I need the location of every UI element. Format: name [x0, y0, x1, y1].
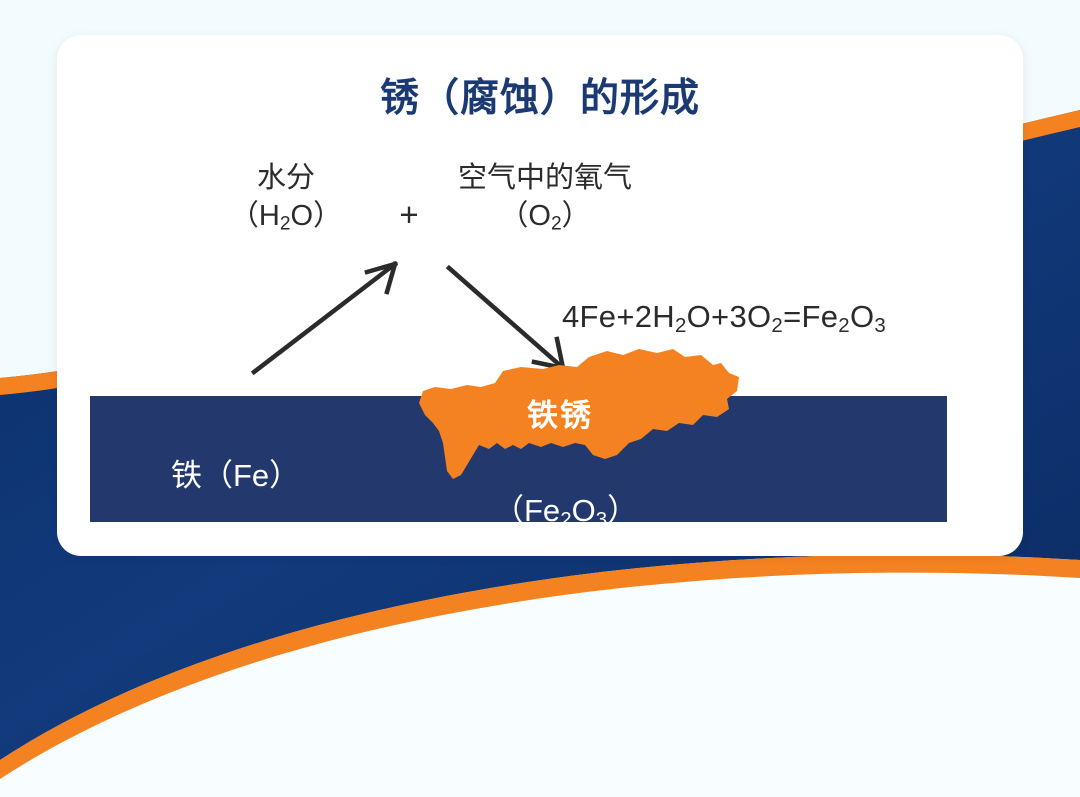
reagent-water-name: 水分 — [257, 162, 315, 194]
rust-label: 铁锈 — [527, 390, 593, 435]
oxide-open: （Fe — [493, 493, 560, 528]
reagent-water-formula: （H2O） — [191, 197, 381, 237]
reagent-oxygen: 空气中的氧气 （O2） — [390, 159, 700, 237]
oxide-sub-2: 3 — [596, 508, 607, 531]
eq-sub: 2 — [771, 314, 783, 337]
reagent-water: 水分 （H2O） — [191, 159, 381, 237]
eq-seg: 4Fe+2H — [562, 299, 675, 334]
formula-subscript: 2 — [280, 214, 291, 235]
iron-oxide-label: （Fe2O3） — [493, 485, 638, 532]
oxide-close: ） — [607, 493, 638, 528]
chemical-equation: 4Fe+2H2O+3O2=Fe2O3 — [562, 299, 886, 338]
eq-sub: 3 — [874, 314, 886, 337]
eq-sub: 2 — [838, 314, 850, 337]
formula-close: O） — [291, 200, 343, 232]
diagram-canvas: 锈（腐蚀）的形成 水分 （H2O） + 空气中的氧气 （O2） 4Fe+2H2O… — [0, 0, 1080, 797]
oxide-sub-1: 2 — [560, 508, 571, 531]
eq-seg: O+3O — [687, 299, 772, 334]
formula-open: （O — [499, 200, 551, 232]
eq-sub: 2 — [675, 314, 687, 337]
eq-seg: =Fe — [783, 299, 838, 334]
arrow-up-right-shaft — [254, 264, 395, 372]
reagent-oxygen-formula: （O2） — [390, 197, 700, 237]
eq-seg: O — [850, 299, 874, 334]
iron-label: 铁（Fe） — [171, 450, 300, 495]
reagent-oxygen-name: 空气中的氧气 — [458, 162, 632, 194]
arrow-up-right-head — [367, 264, 395, 292]
oxide-mid: O — [572, 493, 596, 528]
content-card: 锈（腐蚀）的形成 水分 （H2O） + 空气中的氧气 （O2） 4Fe+2H2O… — [57, 35, 1023, 556]
page-title: 锈（腐蚀）的形成 — [57, 78, 1023, 121]
formula-subscript: 2 — [551, 214, 562, 235]
formula-open: （H — [230, 200, 280, 232]
formula-close: ） — [562, 200, 591, 232]
